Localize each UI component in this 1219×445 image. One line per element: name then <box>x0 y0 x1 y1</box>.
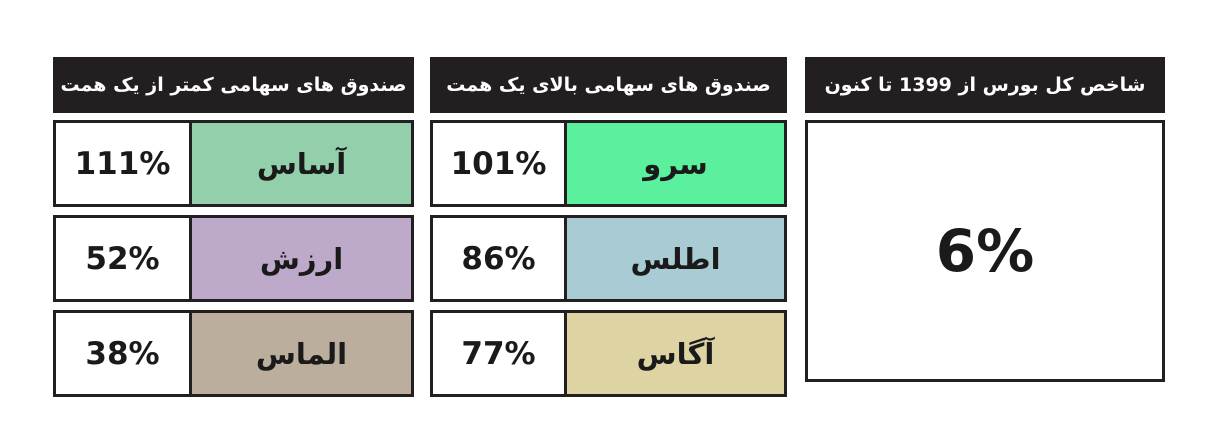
panel-body-small-funds: 111% آساس 52% ارزش 38% الماس <box>53 120 414 397</box>
row-value: 101% <box>433 123 567 204</box>
panel-small-funds: صندوق های سهامی کمتر از یک همت 111% آساس… <box>53 57 414 397</box>
table-row: 77% آگاس <box>430 310 787 397</box>
panel-header-market-index: شاخص کل بورس از 1399 تا کنون <box>805 57 1165 113</box>
panel-header-small-funds: صندوق های سهامی کمتر از یک همت <box>53 57 414 113</box>
panel-header-large-funds: صندوق های سهامی بالای یک همت <box>430 57 787 113</box>
table-row: 101% سرو <box>430 120 787 207</box>
row-name: آگاس <box>567 313 784 394</box>
row-value: 38% <box>56 313 192 394</box>
row-value: 77% <box>433 313 567 394</box>
panel-large-funds: صندوق های سهامی بالای یک همت 101% سرو 86… <box>430 57 787 397</box>
table-row: 38% الماس <box>53 310 414 397</box>
row-name: الماس <box>192 313 411 394</box>
table-row: 111% آساس <box>53 120 414 207</box>
market-index-box: 6% <box>805 120 1165 382</box>
infographic-canvas: صندوق های سهامی کمتر از یک همت 111% آساس… <box>0 0 1219 445</box>
row-name: اطلس <box>567 218 784 299</box>
table-row: 86% اطلس <box>430 215 787 302</box>
row-value: 52% <box>56 218 192 299</box>
table-row: 52% ارزش <box>53 215 414 302</box>
panel-market-index: شاخص کل بورس از 1399 تا کنون 6% <box>805 57 1165 382</box>
panel-body-large-funds: 101% سرو 86% اطلس 77% آگاس <box>430 120 787 397</box>
row-name: ارزش <box>192 218 411 299</box>
row-value: 86% <box>433 218 567 299</box>
row-name: آساس <box>192 123 411 204</box>
row-name: سرو <box>567 123 784 204</box>
row-value: 111% <box>56 123 192 204</box>
market-index-value: 6% <box>936 222 1034 280</box>
